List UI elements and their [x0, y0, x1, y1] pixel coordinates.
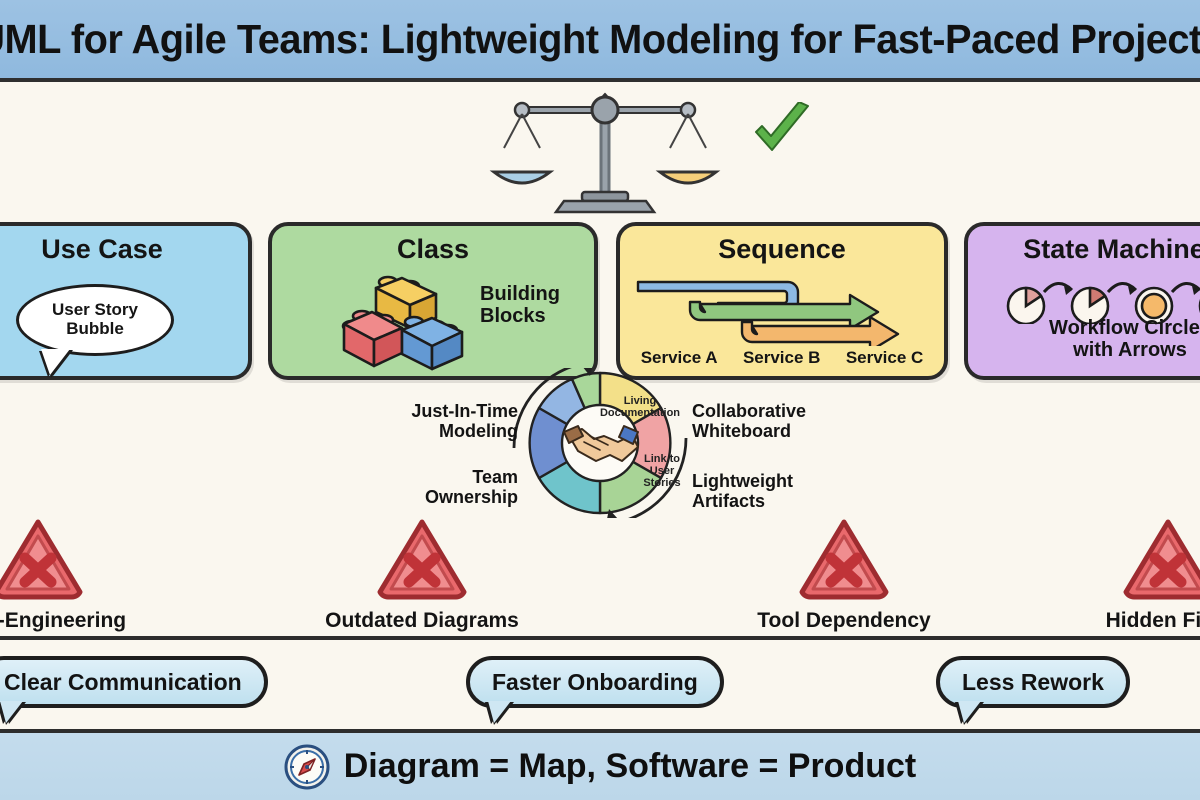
lifeline-service-b: Service B: [743, 348, 821, 368]
wheel-icon: [498, 368, 702, 518]
card-use-case-title: Use Case: [0, 234, 248, 265]
anti-pattern-hidden-files[interactable]: Hidden Files: [1068, 518, 1200, 633]
green-check-icon: [750, 102, 814, 160]
anti-patterns-row: Over-Engineering Outdated Diagrams Tool …: [0, 518, 1200, 634]
wheel-label-just-in-time: Just-In-Time Modeling: [398, 402, 518, 442]
state-circles-icon: [996, 268, 1200, 324]
compass-icon: [284, 744, 330, 790]
card-state-machine[interactable]: State Machine: [964, 222, 1200, 380]
diagram-cards-row: Use Case User Story Bubble Class: [0, 222, 1200, 382]
wheel-label-team-ownership: Team Ownership: [408, 468, 518, 508]
wheel-segment-link-to-user-stories: Link to User Stories: [632, 454, 692, 490]
header-band: UML for Agile Teams: Lightweight Modelin…: [0, 0, 1200, 82]
benefit-label: Clear Communication: [4, 669, 242, 696]
benefit-less-rework[interactable]: Less Rework: [936, 656, 1130, 708]
warning-x-icon: [798, 518, 890, 600]
speech-bubble-icon: User Story Bubble: [16, 284, 174, 356]
benefit-clear-communication[interactable]: Clear Communication: [0, 656, 268, 708]
sequence-lifeline-labels: Service A Service B Service C: [620, 348, 944, 368]
wheel-label-lightweight: Lightweight Artifacts: [692, 472, 822, 512]
infographic-page: UML for Agile Teams: Lightweight Modelin…: [0, 0, 1200, 800]
benefit-label: Less Rework: [962, 669, 1104, 696]
card-class-side-label: Building Blocks: [480, 284, 590, 327]
card-use-case-bubble-text: User Story Bubble: [52, 301, 138, 338]
warning-x-icon: [0, 518, 84, 600]
sequence-arrows-icon: [634, 274, 934, 346]
anti-pattern-label: Over-Engineering: [0, 609, 138, 633]
anti-pattern-label: Outdated Diagrams: [322, 609, 522, 633]
anti-pattern-label: Tool Dependency: [744, 609, 944, 633]
divider-above-benefits: [0, 636, 1200, 640]
anti-pattern-over-engineering[interactable]: Over-Engineering: [0, 518, 138, 633]
card-sequence-title: Sequence: [620, 234, 944, 265]
anti-pattern-outdated-diagrams[interactable]: Outdated Diagrams: [322, 518, 522, 633]
wheel-label-collaborative: Collaborative Whiteboard: [692, 402, 822, 442]
warning-x-icon: [1122, 518, 1200, 600]
card-state-machine-side-label: Workflow Circles with Arrows: [990, 318, 1200, 361]
card-use-case[interactable]: Use Case User Story Bubble: [0, 222, 252, 380]
benefits-row: Clear Communication Faster Onboarding Le…: [0, 650, 1200, 726]
lifeline-service-a: Service A: [641, 348, 718, 368]
lego-bricks-icon: [340, 272, 476, 376]
balance-scale-icon: [460, 88, 750, 214]
card-sequence[interactable]: Sequence Service A Service B Service C: [616, 222, 948, 380]
lifeline-service-c: Service C: [846, 348, 924, 368]
benefit-label: Faster Onboarding: [492, 669, 698, 696]
benefit-faster-onboarding[interactable]: Faster Onboarding: [466, 656, 724, 708]
page-title: UML for Agile Teams: Lightweight Modelin…: [0, 16, 1200, 63]
balance-scale-section: Agile Speed UML Structure: [0, 86, 1200, 214]
footer-band: Diagram = Map, Software = Product: [0, 733, 1200, 800]
warning-x-icon: [376, 518, 468, 600]
agile-practices-wheel: Just-In-Time Modeling Team Ownership Col…: [0, 368, 1200, 513]
card-state-machine-title: State Machine: [968, 234, 1200, 265]
card-class[interactable]: Class: [268, 222, 598, 380]
wheel-segment-living-documentation: Living Documentation: [592, 396, 688, 420]
footer-text: Diagram = Map, Software = Product: [344, 747, 916, 786]
card-class-title: Class: [272, 234, 594, 265]
anti-pattern-label: Hidden Files: [1068, 609, 1200, 633]
anti-pattern-tool-dependency[interactable]: Tool Dependency: [744, 518, 944, 633]
